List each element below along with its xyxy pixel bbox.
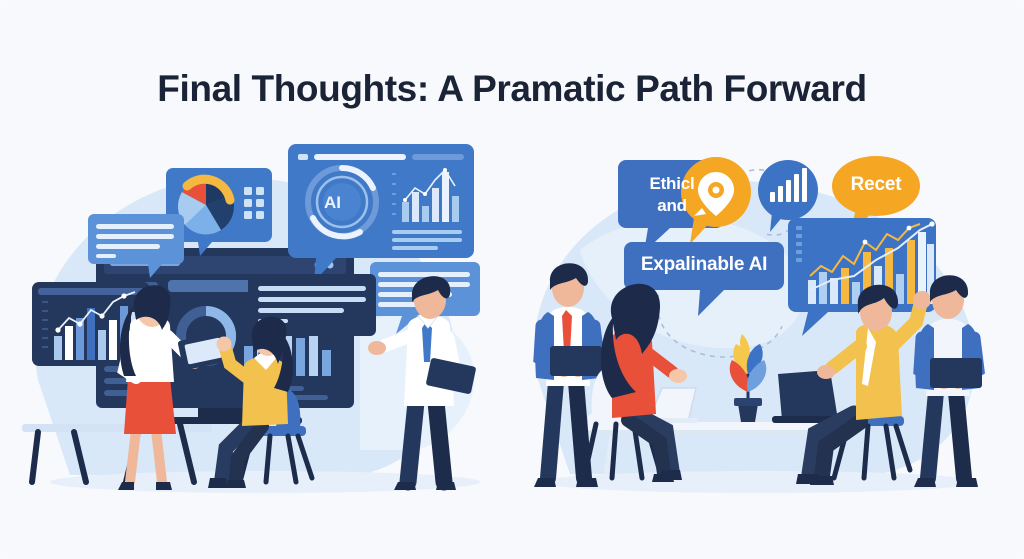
right-illustration-scene: Ethicl and Expalinable AI Recet (520, 130, 1000, 530)
right-scene-graphic (520, 130, 1000, 530)
pie-chart-icon (178, 177, 234, 234)
tablet-device (550, 346, 602, 376)
bubble-explainable-label: Expalinable AI (626, 254, 782, 276)
floor-shadow (542, 471, 978, 493)
left-scene-graphic (30, 130, 500, 530)
bubble-ethical-line1: Ethicl (624, 174, 720, 194)
bubble-ethical-line2: and (624, 196, 720, 216)
tablet-device (930, 358, 982, 388)
illustration-canvas: Final Thoughts: A Pramatic Path Forward (0, 0, 1024, 559)
ai-panel-label: AI (324, 193, 341, 213)
left-illustration-scene (30, 130, 500, 530)
bubble-recent-label: Recet (834, 174, 918, 196)
page-title: Final Thoughts: A Pramatic Path Forward (0, 68, 1024, 110)
